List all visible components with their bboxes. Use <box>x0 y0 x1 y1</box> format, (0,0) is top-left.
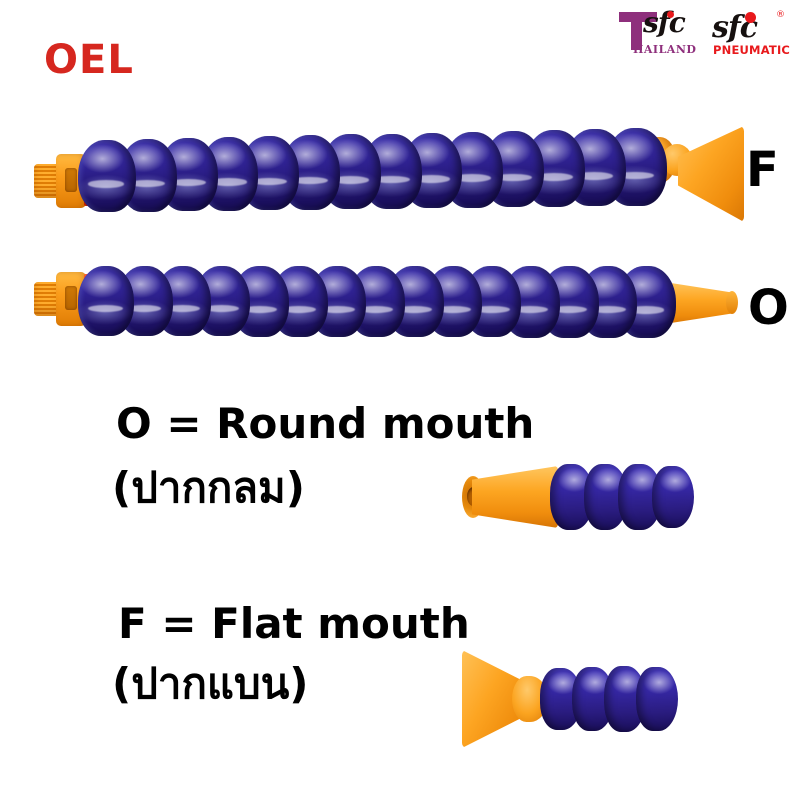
round-mouth-detail <box>462 458 677 548</box>
code-letter-flat: F <box>746 146 779 194</box>
sfc-tagline-label: PNEUMATIC <box>713 43 790 57</box>
nozzle-tip <box>726 291 738 314</box>
cone-body <box>472 466 558 528</box>
coolant-hose-flat-mouth <box>34 118 744 236</box>
product-diagram-page: OEL sfc HAILAND sfc ® PNEUMATIC F <box>0 0 800 800</box>
legend-round-english: O = Round mouth <box>116 402 534 446</box>
hose-segment <box>78 266 134 336</box>
flat-mouth-detail <box>462 648 677 753</box>
nozzle-fan-blade <box>678 126 744 222</box>
tsfc-country-label: HAILAND <box>633 43 696 56</box>
page-title: OEL <box>44 40 134 80</box>
hose-segment <box>652 466 694 528</box>
tsfc-logo-wordmark: sfc <box>643 6 685 39</box>
legend-flat-english: F = Flat mouth <box>118 602 470 646</box>
hose-segment <box>636 667 678 731</box>
legend-round-thai: (ปากกลม) <box>112 466 305 510</box>
tsfc-thailand-logo: sfc HAILAND <box>617 8 699 58</box>
registered-trademark-icon: ® <box>776 10 785 20</box>
code-letter-round: O <box>748 284 789 332</box>
coolant-hose-round-mouth <box>34 266 744 346</box>
legend-flat-thai: (ปากแบน) <box>112 662 309 706</box>
inlet-slot <box>65 168 77 192</box>
sfc-pneumatic-logo: sfc ® PNEUMATIC <box>712 8 792 58</box>
tsfc-red-dot-icon <box>667 11 674 18</box>
sfc-red-dot-icon <box>745 12 756 23</box>
inlet-slot <box>65 286 77 310</box>
hose-segment <box>78 140 136 212</box>
